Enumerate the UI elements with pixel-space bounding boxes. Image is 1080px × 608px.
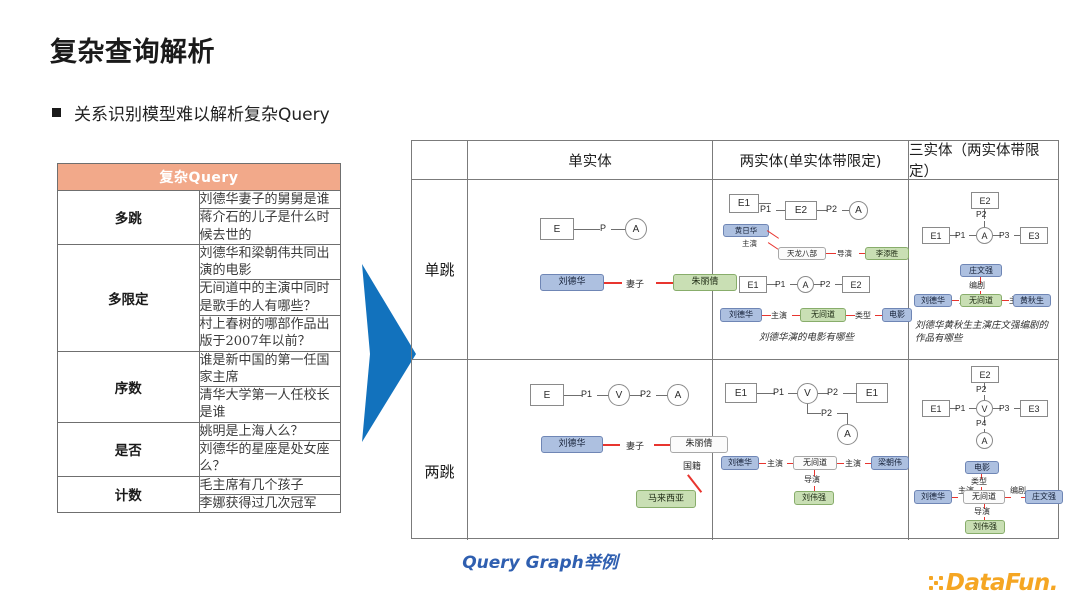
relation-edge (837, 463, 844, 464)
relation-edge (603, 444, 620, 446)
schema-edge-label-P3: P3 (999, 230, 1009, 240)
relation-edge (1005, 497, 1011, 498)
query-cell: 清华大学第一人任校长是谁 (199, 387, 341, 423)
relation-edge (1002, 300, 1009, 301)
slide-root: 复杂查询解析 关系识别模型难以解析复杂Query 复杂Query 多跳 刘德华妻… (0, 0, 1080, 608)
row-header-one-hop: 单跳 (412, 180, 468, 360)
schema-node-E1: E1 (739, 276, 767, 293)
query-cell: 李娜获得过几次冠军 (199, 494, 341, 512)
entity-chip-center: 无间道 (963, 490, 1005, 504)
schema-edge-label-P2: P2 (820, 279, 830, 289)
schema-node-E: E (540, 218, 574, 240)
schema-node-A: A (625, 218, 647, 240)
entity-chip-n3: 电影 (882, 308, 912, 322)
schema-edge (807, 413, 821, 414)
relation-edge (846, 315, 855, 316)
relation-edge (654, 444, 671, 446)
entity-chip-n1: 刘德华 (720, 308, 762, 322)
cell-two-hop-two-entity: E1 P1 V P2 E1 P2 A 刘德华 主演 无间道 (713, 360, 909, 540)
figure-caption: Query Graph举例 (0, 548, 1080, 573)
logo-dots-icon (929, 576, 943, 590)
relation-label-r2: 国籍 (683, 459, 701, 472)
schema-edge (611, 229, 626, 230)
schema-edge (564, 395, 582, 396)
entity-chip-n2: 无间道 (800, 308, 846, 322)
query-graph-table: 单实体 两实体(单实体带限定) 三实体（两实体带限定） 单跳 E P A 刘德华… (411, 140, 1059, 539)
query-cell: 刘德华和梁朝伟共同出演的电影 (199, 244, 341, 280)
relation-edge (604, 282, 622, 284)
category-cell: 是否 (58, 422, 200, 476)
schema-node-E1: E1 (922, 400, 950, 417)
query-cell: 刘德华妻子的舅舅是谁 (199, 191, 341, 209)
relation-label-down: 导演 (974, 506, 990, 517)
schema-edge-label-P2: P2 (827, 387, 838, 397)
schema-node-A: A (849, 201, 868, 220)
relation-edge (656, 282, 674, 284)
schema-node-E2: E2 (785, 201, 817, 220)
schema-edge-label-P3: P3 (999, 403, 1009, 413)
row-header-two-hop: 两跳 (412, 360, 468, 540)
relation-label-r1: 主演 (771, 310, 787, 321)
schema-node-E2: E2 (971, 192, 999, 209)
schema-node-V: V (797, 383, 818, 404)
schema-node-E: E (530, 384, 564, 406)
entity-chip-subject: 刘德华 (540, 274, 604, 291)
table-row: 多跳 刘德华妻子的舅舅是谁 (58, 191, 341, 209)
schema-node-A: A (976, 432, 993, 449)
schema-node-A: A (667, 384, 689, 406)
relation-label-left: 主演 (767, 458, 783, 469)
schema-node-E1: E1 (725, 383, 757, 403)
query-cell: 蒋介石的儿子是什么时候去世的 (199, 209, 341, 245)
category-cell: 计数 (58, 476, 200, 513)
table-header-row: 复杂Query (58, 164, 341, 191)
schema-edge (969, 408, 976, 409)
query-cell: 谁是新中国的第一任国家主席 (199, 351, 341, 387)
table-row: 多限定 刘德华和梁朝伟共同出演的电影 (58, 244, 341, 280)
schema-edge-label-P1: P1 (760, 204, 771, 214)
relation-edge (762, 315, 771, 316)
cell-one-hop-one-entity: E P A 刘德华 妻子 朱丽倩 (468, 180, 713, 360)
entity-chip-n1: 黄日华 (723, 224, 769, 237)
schema-edge (843, 393, 857, 394)
schema-edge-label-P1: P1 (773, 387, 784, 397)
category-cell: 多限定 (58, 244, 200, 351)
entity-chip-right: 梁朝伟 (871, 456, 909, 470)
schema-edge-label-P2: P2 (976, 384, 986, 394)
schema-edge-label-P2: P2 (976, 209, 986, 219)
schema-node-E3: E3 (1020, 227, 1048, 244)
schema-edge-label-P4: P4 (976, 418, 986, 428)
schema-edge-label-P1: P1 (955, 230, 965, 240)
blue-arrow-icon (360, 262, 418, 444)
schema-node-V: V (608, 384, 630, 406)
relation-label-down: 导演 (804, 474, 820, 485)
schema-edge-label-P1: P1 (581, 389, 592, 399)
schema-node-A: A (797, 276, 814, 293)
category-cell: 序数 (58, 351, 200, 422)
query-cell: 姚明是上海人么？ (199, 422, 341, 440)
query-cell: 刘德华的星座是处女座么？ (199, 440, 341, 476)
relation-label-right: 编剧 (1010, 487, 1018, 495)
query-cell: 村上春树的哪部作品出版于2007年以前？ (199, 315, 341, 351)
query-cell: 无间道中的主演中同时是歌手的人有哪些？ (199, 280, 341, 316)
entity-chip-left: 刘德华 (914, 490, 952, 504)
datafun-logo: DataFun. (929, 570, 1058, 596)
graph-table-corner (412, 141, 468, 180)
page-title: 复杂查询解析 (50, 30, 215, 69)
relation-label-r2: 类型 (855, 310, 871, 321)
relation-label-right: 主演 (845, 458, 861, 469)
schema-node-A: A (837, 424, 858, 445)
relation-edge (826, 253, 836, 254)
entity-chip-down: 刘伟强 (965, 520, 1005, 534)
schema-edge-label-P1: P1 (955, 403, 965, 413)
table-row: 是否 姚明是上海人么？ (58, 422, 341, 440)
complex-query-table: 复杂Query 多跳 刘德华妻子的舅舅是谁 蒋介石的儿子是什么时候去世的 多限定… (57, 163, 341, 513)
relation-edge (759, 463, 766, 464)
relation-label-r1: 主演 (742, 238, 757, 249)
schema-node-E2: E2 (842, 276, 870, 293)
schema-edge-label-P: P (600, 223, 606, 233)
cell-one-hop-two-entity: E1 P1 E2 P2 A 黄日华 主演 天龙八部 导演 李添胜 (713, 180, 909, 360)
entity-chip-n2: 天龙八部 (778, 247, 826, 260)
entity-chip-down: 刘伟强 (794, 491, 834, 505)
entity-chip-center: 无间道 (960, 294, 1002, 307)
column-header-two-entity: 两实体(单实体带限定) (713, 141, 909, 180)
bullet-label: 关系识别模型难以解析复杂Query (74, 100, 330, 125)
cell-two-hop-three-entity: E2 P2 E1 P1 V P3 E3 P4 A 电影 类型 (909, 360, 1058, 540)
relation-label-top: 编剧 (969, 280, 985, 291)
relation-edge (768, 242, 779, 250)
entity-chip-n1: 刘德华 (541, 436, 603, 453)
schema-node-E2: E2 (971, 366, 999, 383)
schema-node-E1: E1 (922, 227, 950, 244)
cell-caption: 刘德华演的电影有哪些 (759, 332, 854, 345)
schema-edge (574, 229, 600, 230)
entity-chip-top: 电影 (965, 461, 999, 474)
schema-node-V: V (976, 400, 993, 417)
cell-one-hop-three-entity: E2 P2 E1 P1 A P3 E3 庄文强 编剧 刘德华 主演 (909, 180, 1058, 360)
table-row: 序数 谁是新中国的第一任国家主席 (58, 351, 341, 387)
entity-chip-center: 无间道 (793, 456, 837, 470)
schema-edge-label-P1: P1 (775, 279, 785, 289)
entity-chip-left: 刘德华 (914, 294, 952, 307)
relation-edge (952, 300, 959, 301)
schema-edge-label-P2: P2 (640, 389, 651, 399)
relation-label-r1: 妻子 (626, 439, 644, 452)
schema-node-E1-right: E1 (856, 383, 888, 403)
schema-node-A: A (976, 227, 993, 244)
relation-label: 妻子 (626, 277, 644, 290)
cell-two-hop-one-entity: E P1 V P2 A 刘德华 妻子 朱丽倩 国籍 马来西亚 (468, 360, 713, 540)
entity-chip-top: 庄文强 (960, 264, 1002, 277)
schema-edge-label-P2-down: P2 (821, 408, 832, 418)
bullet-item: 关系识别模型难以解析复杂Query (52, 100, 330, 125)
entity-chip-right: 庄文强 (1025, 490, 1063, 504)
schema-edge (969, 235, 976, 236)
schema-edge-label-P2: P2 (826, 204, 837, 214)
entity-chip-left: 刘德华 (721, 456, 759, 470)
column-header-single-entity: 单实体 (468, 141, 713, 180)
bullet-square-icon (52, 108, 61, 117)
cell-caption: 刘德华黄秋生主演庄文强编剧的作品有哪些 (915, 320, 1051, 346)
complex-query-header: 复杂Query (58, 164, 341, 191)
relation-label-r2: 导演 (837, 248, 852, 259)
category-cell: 多跳 (58, 191, 200, 245)
entity-chip-n3: 马来西亚 (636, 490, 696, 508)
schema-node-E1: E1 (729, 194, 759, 213)
query-cell: 毛主席有几个孩子 (199, 476, 341, 494)
table-row: 计数 毛主席有几个孩子 (58, 476, 341, 494)
schema-node-E3: E3 (1020, 400, 1048, 417)
logo-text: DataFun. (946, 570, 1058, 596)
entity-chip-right: 黄秋生 (1013, 294, 1051, 307)
relation-edge (952, 497, 958, 498)
entity-chip-n3: 李添胜 (865, 247, 909, 260)
column-header-three-entity: 三实体（两实体带限定） (909, 141, 1058, 180)
